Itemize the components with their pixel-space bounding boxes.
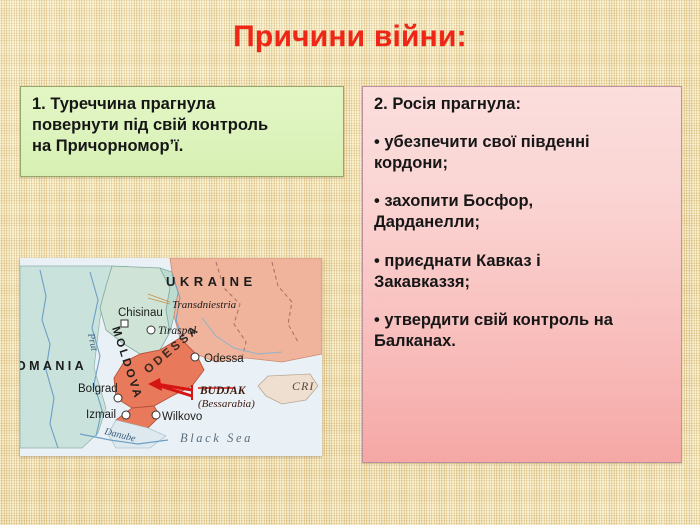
- cause-russia-bullet-1-line-2: кордони;: [374, 153, 671, 174]
- map-label-wilkovo: Wilkovo: [162, 411, 202, 423]
- cause-box-russia[interactable]: 2. Росія прагнула: • убезпечити свої пів…: [362, 86, 682, 463]
- slide-canvas: Причини війни: 1. Туреччина прагнула пов…: [0, 0, 700, 525]
- map-label-chisinau: Chisinau: [118, 307, 163, 319]
- map-city-marker-chisinau: [121, 320, 128, 327]
- cause-russia-bullet-4-line-2: Балканах.: [374, 331, 671, 352]
- map-label-tiraspol: Tiraspol: [158, 325, 196, 337]
- cause-russia-spacer-2: [374, 174, 671, 191]
- cause-russia-bullet-3-line-2: Закавказзя;: [374, 272, 671, 293]
- map-city-marker-odessa: [191, 353, 199, 361]
- cause-turkey-line-2: повернути під свій контроль: [32, 115, 333, 136]
- map-city-marker-bolgrad: [114, 394, 122, 402]
- map-label-black-sea: Black Sea: [180, 431, 253, 445]
- cause-russia-heading: 2. Росія прагнула:: [374, 94, 671, 115]
- map-image-budjak[interactable]: UKRAINE MOLDOVA OMANIA ODESSA Transdnies…: [20, 258, 322, 456]
- cause-russia-bullet-1-line-1: • убезпечити свої південні: [374, 132, 671, 153]
- map-label-ukraine: UKRAINE: [166, 274, 257, 289]
- cause-box-turkey[interactable]: 1. Туреччина прагнула повернути під свій…: [20, 86, 344, 177]
- map-city-marker-izmail: [122, 411, 130, 419]
- map-label-bessarabia: (Bessarabia): [198, 398, 255, 410]
- map-city-marker-wilkovo: [152, 411, 160, 419]
- cause-russia-bullet-2-line-2: Дарданелли;: [374, 212, 671, 233]
- cause-turkey-line-3: на Причорномор’ї.: [32, 136, 333, 157]
- cause-russia-spacer-3: [374, 234, 671, 251]
- cause-russia-spacer-1: [374, 115, 671, 132]
- map-label-transdniestria: Transdniestria: [172, 299, 237, 311]
- map-label-bolgrad: Bolgrad: [78, 383, 118, 395]
- cause-russia-bullet-3-line-1: • приєднати Кавказ і: [374, 251, 671, 272]
- map-label-izmail: Izmail: [86, 409, 116, 421]
- map-label-romania: OMANIA: [20, 359, 87, 373]
- page-title: Причини війни:: [0, 20, 700, 54]
- map-label-odessa-city: Odessa: [204, 353, 244, 365]
- cause-russia-bullet-4-line-1: • утвердити свій контроль на: [374, 310, 671, 331]
- cause-russia-spacer-4: [374, 293, 671, 310]
- map-label-budjak: BUDJAK: [199, 385, 247, 397]
- cause-russia-bullet-2-line-1: • захопити Босфор,: [374, 191, 671, 212]
- cause-turkey-line-1: 1. Туреччина прагнула: [32, 94, 333, 115]
- map-city-marker-tiraspol: [147, 326, 155, 334]
- map-label-crimea: CRI: [292, 379, 314, 393]
